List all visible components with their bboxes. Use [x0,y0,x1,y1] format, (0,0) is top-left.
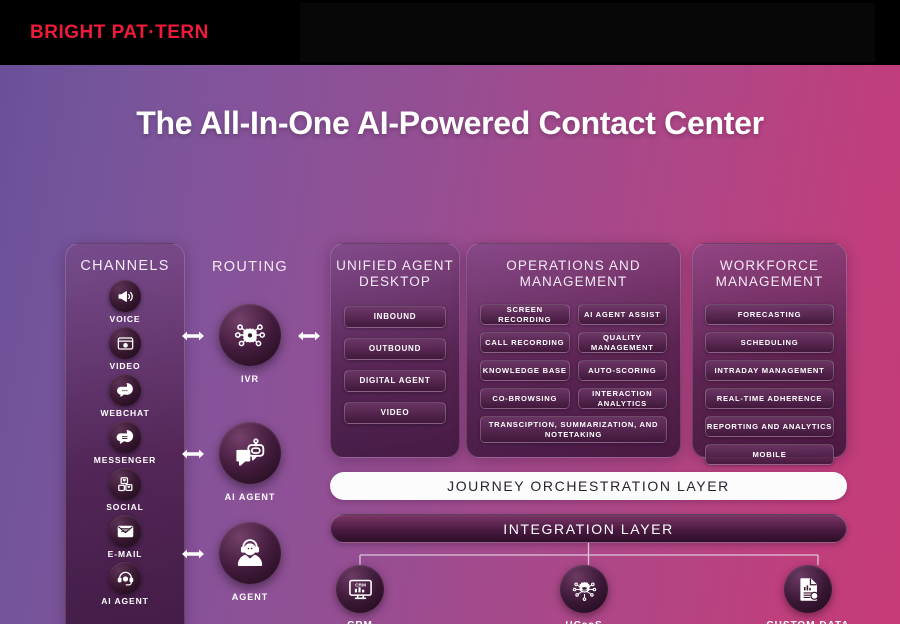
channels-list: VOICEVIDEOWEBCHATMESSENGERSOCIALE-MAILAI… [66,280,184,606]
gear-network-icon [219,304,281,366]
workforce-management-chip[interactable]: INTRADAY MANAGEMENT [705,360,834,381]
channel-item-webchat[interactable]: WEBCHAT [66,374,184,418]
operations-management-chip[interactable]: CALL RECORDING [480,332,570,353]
workforce-management-chip[interactable]: REPORTING AND ANALYTICS [705,416,834,437]
chat-bubbles-lines-icon [109,421,141,453]
channel-item-ai-agent[interactable]: AI AGENT [66,562,184,606]
operations-management-panel: OPERATIONS AND MANAGEMENT SCREEN RECORDI… [466,243,681,458]
operations-management-chip[interactable]: INTERACTION ANALYTICS [578,388,668,409]
channel-label: MESSENGER [66,455,184,465]
unified-agent-desktop-chip[interactable]: OUTBOUND [344,338,446,360]
routing-title: ROUTING [190,259,310,275]
unified-agent-desktop-chip[interactable]: DIGITAL AGENT [344,370,446,392]
robot-chat-icon [219,422,281,484]
agent-person-icon [219,522,281,584]
unified-agent-desktop-title: UNIFIED AGENT DESKTOP [331,258,459,290]
channels-title: CHANNELS [66,258,184,274]
chat-bubbles-dots-icon [109,374,141,406]
routing-item-agent[interactable]: AGENT [190,522,310,602]
integration-node-label: CRM [300,620,420,624]
channel-label: E-MAIL [66,549,184,559]
integration-node-crm[interactable]: CRMCRM [300,565,420,624]
operations-management-chip[interactable]: SCREEN RECORDING [480,304,570,325]
channel-label: VIDEO [66,361,184,371]
workforce-management-title: WORKFORCE MANAGEMENT [693,258,846,290]
operations-management-chip[interactable]: AUTO-SCORING [578,360,668,381]
workforce-management-chip[interactable]: SCHEDULING [705,332,834,353]
operations-management-chip[interactable]: KNOWLEDGE BASE [480,360,570,381]
unified-agent-desktop-panel: UNIFIED AGENT DESKTOP INBOUNDOUTBOUNDDIG… [330,243,460,458]
channel-item-e-mail[interactable]: E-MAIL [66,515,184,559]
document-chart-icon [784,565,832,613]
journey-orchestration-layer-bar[interactable]: JOURNEY ORCHESTRATION LAYER [330,472,847,500]
integration-node-label: CUSTOM DATA [748,620,868,624]
operations-management-chip-wide[interactable]: TRANSCIPTION, SUMMARIZATION, AND NOTETAK… [480,416,667,443]
channel-label: VOICE [66,314,184,324]
routing-item-ai-agent[interactable]: AI AGENT [190,422,310,502]
integration-node-custom-data[interactable]: CUSTOM DATA [748,565,868,624]
integration-node-ucaas[interactable]: UCaaS [524,565,644,624]
workforce-management-list: FORECASTINGSCHEDULINGINTRADAY MANAGEMENT… [693,304,846,465]
workforce-management-chip[interactable]: MOBILE [705,444,834,465]
crm-monitor-icon: CRM [336,565,384,613]
video-window-icon [109,327,141,359]
operations-management-title: OPERATIONS AND MANAGEMENT [467,258,680,290]
operations-management-chip[interactable]: QUALITY MANAGEMENT [578,332,668,353]
social-hearts-icon [109,468,141,500]
channel-label: SOCIAL [66,502,184,512]
connector-arrow-left [182,329,204,347]
integration-node-label: UCaaS [524,620,644,624]
slide-canvas: The All-In-One AI-Powered Contact Center… [0,65,900,624]
workforce-management-panel: WORKFORCE MANAGEMENT FORECASTINGSCHEDULI… [692,243,847,458]
connector-arrow-left [182,447,204,465]
channels-panel: CHANNELS VOICEVIDEOWEBCHATMESSENGERSOCIA… [65,243,185,624]
workforce-management-chip[interactable]: REAL-TIME ADHERENCE [705,388,834,409]
operations-management-list: SCREEN RECORDINGAI AGENT ASSISTCALL RECO… [467,304,680,443]
channel-item-video[interactable]: VIDEO [66,327,184,371]
unified-agent-desktop-chip[interactable]: VIDEO [344,402,446,424]
infographic-slide: BRIGHT PAT·TERN The All-In-One AI-Powere… [0,0,900,624]
operations-management-chip[interactable]: AI AGENT ASSIST [578,304,668,325]
header-bar: BRIGHT PAT·TERN [0,0,900,65]
channel-item-social[interactable]: SOCIAL [66,468,184,512]
channel-item-voice[interactable]: VOICE [66,280,184,324]
channel-label: WEBCHAT [66,408,184,418]
unified-agent-desktop-chip[interactable]: INBOUND [344,306,446,328]
megaphone-icon [109,280,141,312]
envelope-icon [109,515,141,547]
routing-item-ivr[interactable]: IVR [190,304,310,384]
unified-agent-desktop-list: INBOUNDOUTBOUNDDIGITAL AGENTVIDEO [331,306,459,424]
integration-layer-bar[interactable]: INTEGRATION LAYER [330,514,847,543]
routing-label: IVR [190,374,310,384]
brand-logo[interactable]: BRIGHT PAT·TERN [30,22,209,44]
headset-bot-icon [109,562,141,594]
operations-management-chip[interactable]: CO-BROWSING [480,388,570,409]
ucaas-network-icon [560,565,608,613]
routing-label: AI AGENT [190,492,310,502]
header-right-panel [300,3,875,62]
routing-label: AGENT [190,592,310,602]
page-title: The All-In-One AI-Powered Contact Center [0,105,900,142]
channel-label: AI AGENT [66,596,184,606]
connector-arrow-left [182,547,204,565]
connector-arrow-right [298,329,320,347]
channel-item-messenger[interactable]: MESSENGER [66,421,184,465]
workforce-management-chip[interactable]: FORECASTING [705,304,834,325]
